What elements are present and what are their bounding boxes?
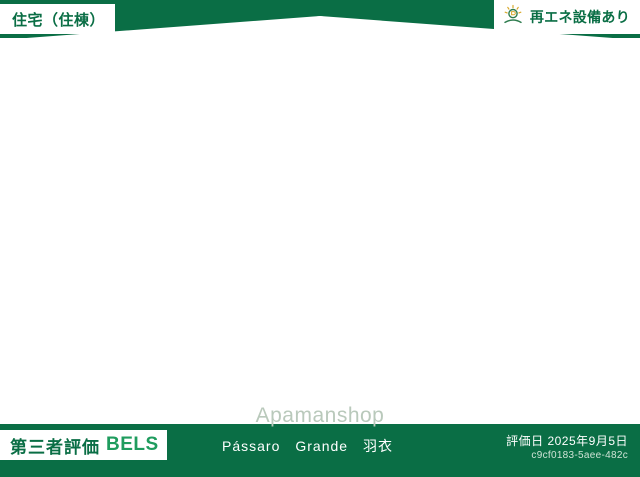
energy-performance-label: 住宅（住棟） 再エネ設備あり 建築物省エネ法に基づく 省エネ性能 [0, 0, 640, 477]
evaluation-date: 評価日 2025年9月5日 [506, 432, 628, 449]
property-name: Pássaro Grande 羽衣 [222, 436, 393, 456]
bels-jp-label: 第三者評価 [10, 433, 100, 458]
label-body [0, 38, 640, 424]
renewable-equipment-badge: 再エネ設備あり [494, 0, 640, 34]
footer-band: 第三者評価 BELS Pássaro Grande 羽衣 評価日 2025年9月… [0, 424, 640, 477]
document-id: c9cf0183-5aee-482c [531, 450, 628, 461]
sun-solar-icon [502, 4, 524, 31]
renewable-equipment-label: 再エネ設備あり [530, 7, 630, 27]
bels-badge: 第三者評価 BELS [0, 430, 167, 460]
bels-en-label: BELS [106, 434, 159, 456]
dwelling-type-label: 住宅（住棟） [12, 9, 105, 30]
dwelling-type-badge: 住宅（住棟） [0, 4, 115, 34]
